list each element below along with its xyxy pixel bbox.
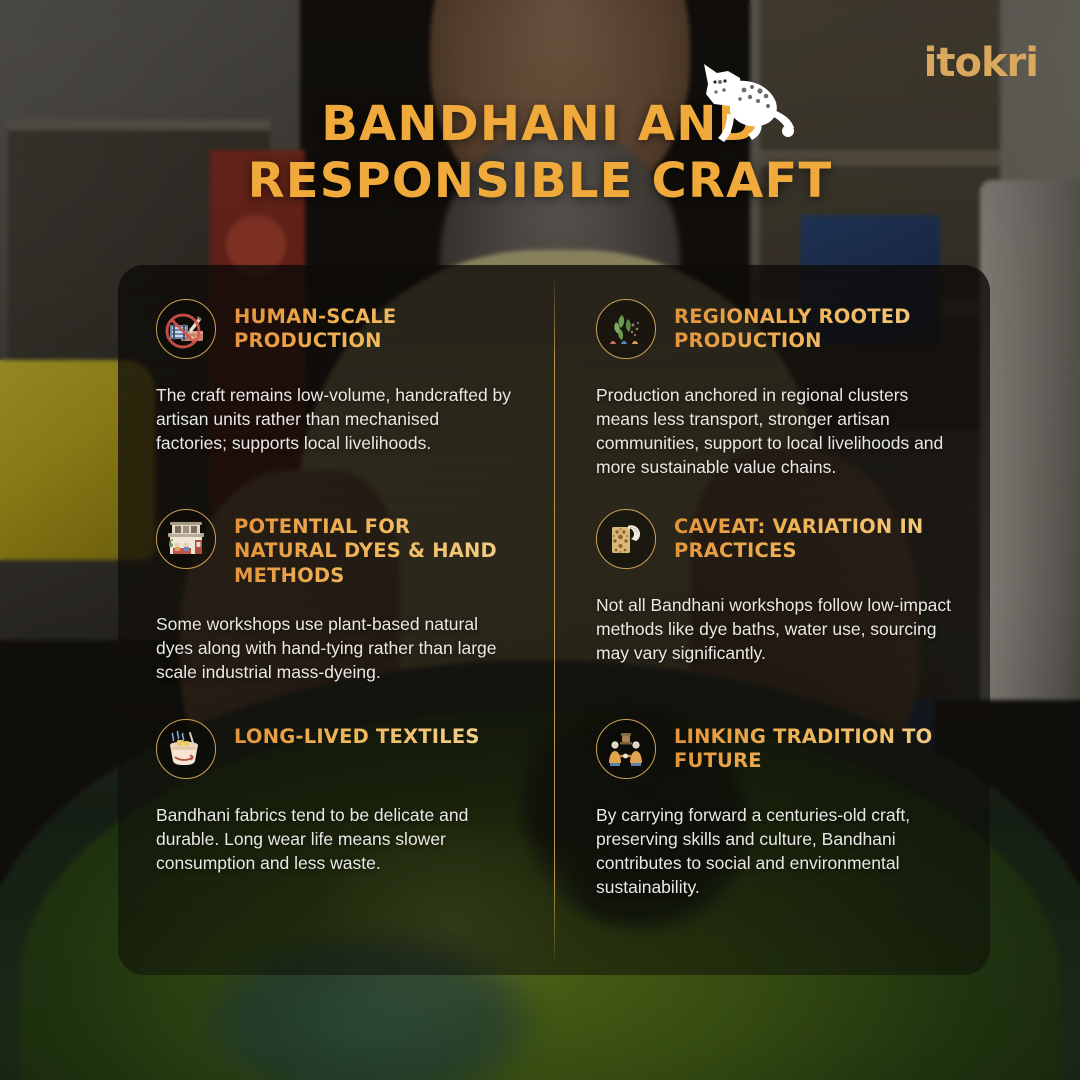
card-header: LINKING TRADITION TO FUTURE bbox=[596, 719, 962, 779]
card-body: By carrying forward a centuries-old craf… bbox=[596, 803, 962, 900]
natural-dye-leaves-icon bbox=[596, 299, 656, 359]
card-header: LONG-LIVED TEXTILES bbox=[156, 719, 514, 779]
card-potential-natural-dyes: POTENTIAL FOR NATURAL DYES & HAND METHOD… bbox=[118, 475, 554, 685]
page-title: BANDHANI AND RESPONSIBLE CRAFT bbox=[0, 96, 1080, 209]
hand-holding-fabric-swatch-icon bbox=[596, 509, 656, 569]
white-cat-illustration-icon bbox=[690, 54, 800, 149]
card-body: Some workshops use plant-based natural d… bbox=[156, 612, 514, 684]
card-human-scale-production: HUMAN-SCALE PRODUCTION The craft remains… bbox=[118, 265, 554, 475]
no-factory-loom-icon bbox=[156, 299, 216, 359]
card-title: REGIONALLY ROOTED PRODUCTION bbox=[674, 299, 962, 354]
card-regionally-rooted-production: REGIONALLY ROOTED PRODUCTION Production … bbox=[554, 265, 990, 475]
card-header: HUMAN-SCALE PRODUCTION bbox=[156, 299, 514, 359]
card-long-lived-textiles: LONG-LIVED TEXTILES Bandhani fabrics ten… bbox=[118, 685, 554, 915]
card-title: LONG-LIVED TEXTILES bbox=[234, 719, 480, 749]
card-title: POTENTIAL FOR NATURAL DYES & HAND METHOD… bbox=[234, 509, 514, 588]
card-body: Production anchored in regional clusters… bbox=[596, 383, 962, 480]
card-title: HUMAN-SCALE PRODUCTION bbox=[234, 299, 514, 354]
cards-grid: HUMAN-SCALE PRODUCTION The craft remains… bbox=[118, 265, 990, 975]
card-header: REGIONALLY ROOTED PRODUCTION bbox=[596, 299, 962, 359]
workshop-building-icon bbox=[156, 509, 216, 569]
two-artisans-icon bbox=[596, 719, 656, 779]
steaming-dye-pot-icon bbox=[156, 719, 216, 779]
card-header: CAVEAT: VARIATION IN PRACTICES bbox=[596, 509, 962, 569]
card-body: Not all Bandhani workshops follow low-im… bbox=[596, 593, 962, 665]
card-body: Bandhani fabrics tend to be delicate and… bbox=[156, 803, 514, 875]
card-title: CAVEAT: VARIATION IN PRACTICES bbox=[674, 509, 962, 564]
content-panel: HUMAN-SCALE PRODUCTION The craft remains… bbox=[118, 265, 990, 975]
card-caveat-variation: CAVEAT: VARIATION IN PRACTICES Not all B… bbox=[554, 475, 990, 685]
brand-logo-text: itokri bbox=[924, 40, 1038, 86]
card-header: POTENTIAL FOR NATURAL DYES & HAND METHOD… bbox=[156, 509, 514, 588]
card-body: The craft remains low-volume, handcrafte… bbox=[156, 383, 514, 455]
page-title-line-1: BANDHANI AND bbox=[0, 96, 1080, 153]
card-linking-tradition-future: LINKING TRADITION TO FUTURE By carrying … bbox=[554, 685, 990, 915]
page-title-line-2: RESPONSIBLE CRAFT bbox=[0, 153, 1080, 210]
card-title: LINKING TRADITION TO FUTURE bbox=[674, 719, 962, 774]
brand-logo[interactable]: itokri bbox=[924, 40, 1038, 86]
